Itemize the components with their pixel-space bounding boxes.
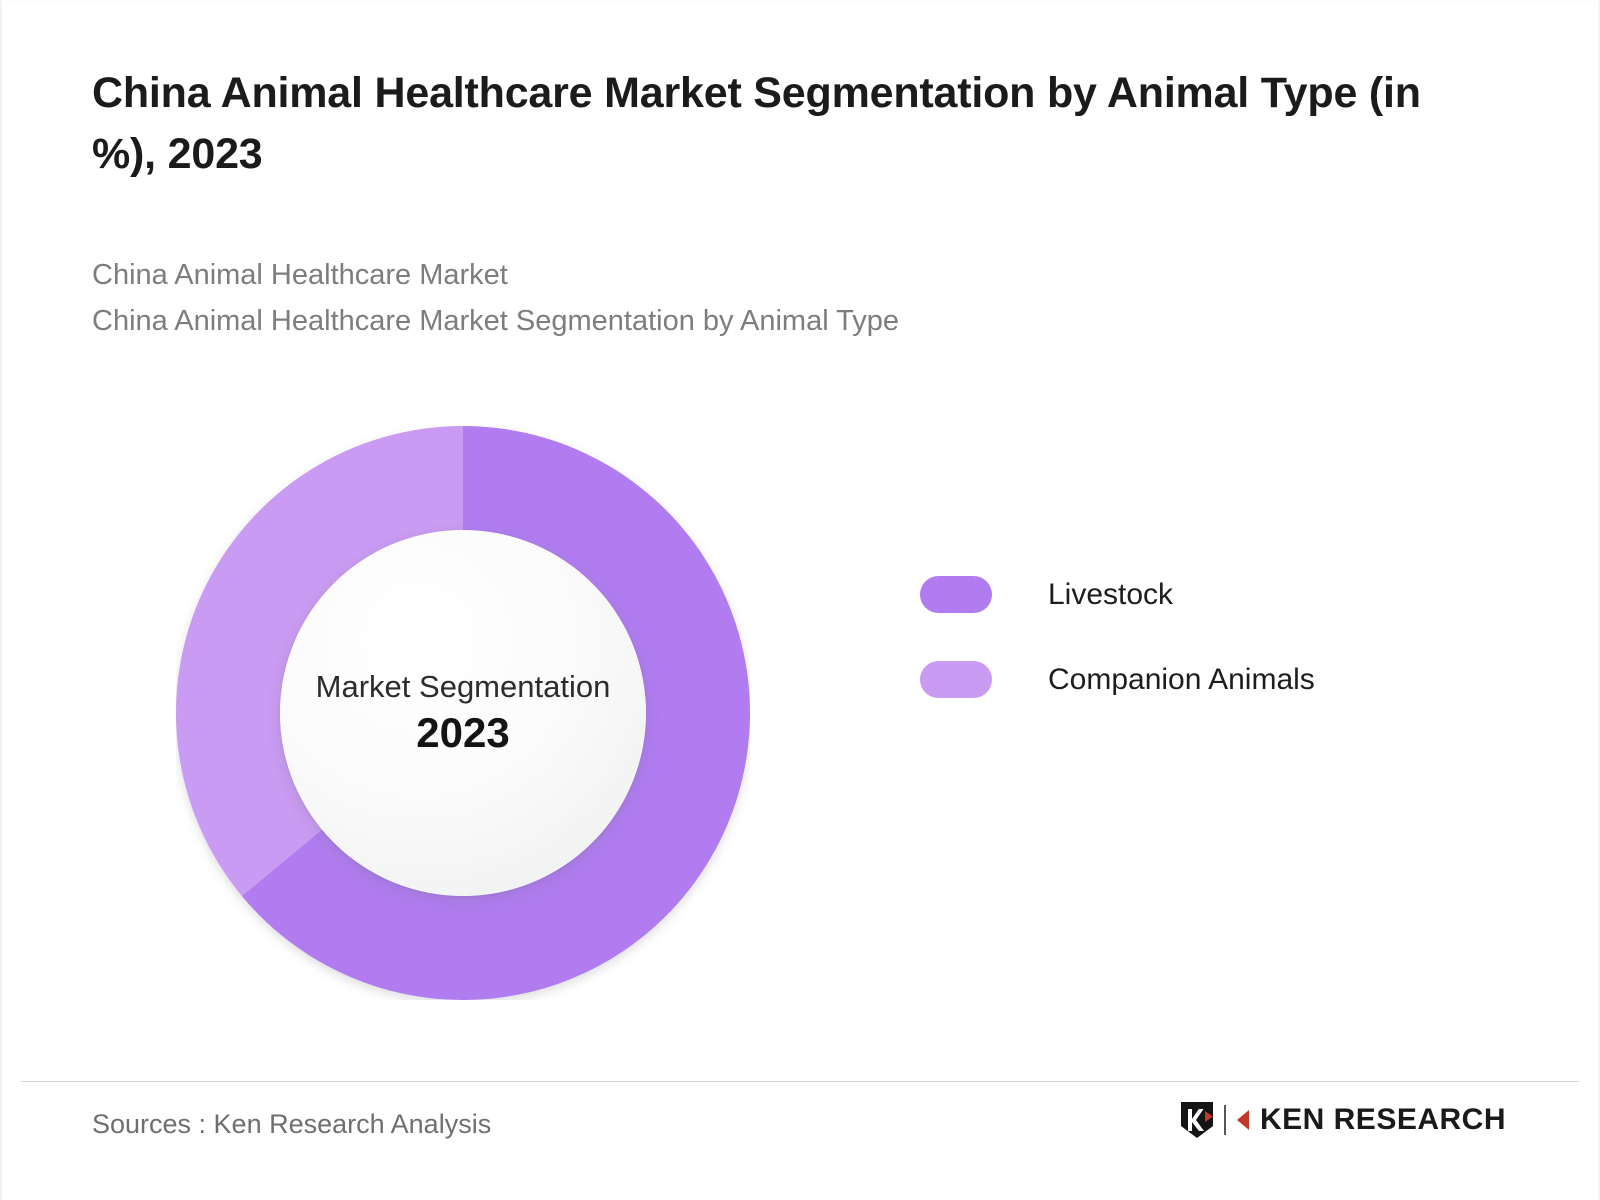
donut-center-label: Market Segmentation	[316, 670, 611, 704]
chart-card: China Animal Healthcare Market Segmentat…	[0, 0, 1600, 1200]
donut-center-value: 2023	[416, 710, 509, 756]
donut-chart: Market Segmentation 2023	[176, 426, 750, 1000]
chart-subtitle-line-1: China Animal Healthcare Market	[92, 253, 1392, 299]
chart-subtitle-block: China Animal Healthcare Market China Ani…	[92, 253, 1392, 345]
legend-swatch-icon-companion-animals	[920, 661, 992, 698]
page-title: China Animal Healthcare Market Segmentat…	[92, 63, 1492, 185]
logo-divider	[1224, 1105, 1226, 1135]
logo-text: KEN RESEARCH	[1260, 1103, 1506, 1137]
legend-label-livestock: Livestock	[1048, 578, 1173, 612]
legend-label-companion-animals: Companion Animals	[1048, 663, 1315, 697]
donut-center-text: Market Segmentation 2023	[280, 530, 646, 896]
legend-swatch-icon-livestock	[920, 576, 992, 613]
chart-footer: Sources : Ken Research Analysis KEN RESE…	[2, 1082, 1598, 1200]
chart-legend: Livestock Companion Animals	[920, 576, 1315, 698]
chart-subtitle-line-2: China Animal Healthcare Market Segmentat…	[92, 299, 1392, 345]
legend-item-companion-animals[interactable]: Companion Animals	[920, 661, 1315, 698]
legend-item-livestock[interactable]: Livestock	[920, 576, 1315, 613]
source-text: Sources : Ken Research Analysis	[92, 1109, 491, 1140]
ken-research-shield-icon	[1179, 1100, 1215, 1140]
ken-research-logo: KEN RESEARCH	[1179, 1100, 1506, 1140]
chart-header: China Animal Healthcare Market Segmentat…	[92, 63, 1512, 185]
logo-caret-icon	[1235, 1109, 1251, 1131]
chart-area: Market Segmentation 2023 Livestock Compa…	[2, 371, 1562, 1061]
